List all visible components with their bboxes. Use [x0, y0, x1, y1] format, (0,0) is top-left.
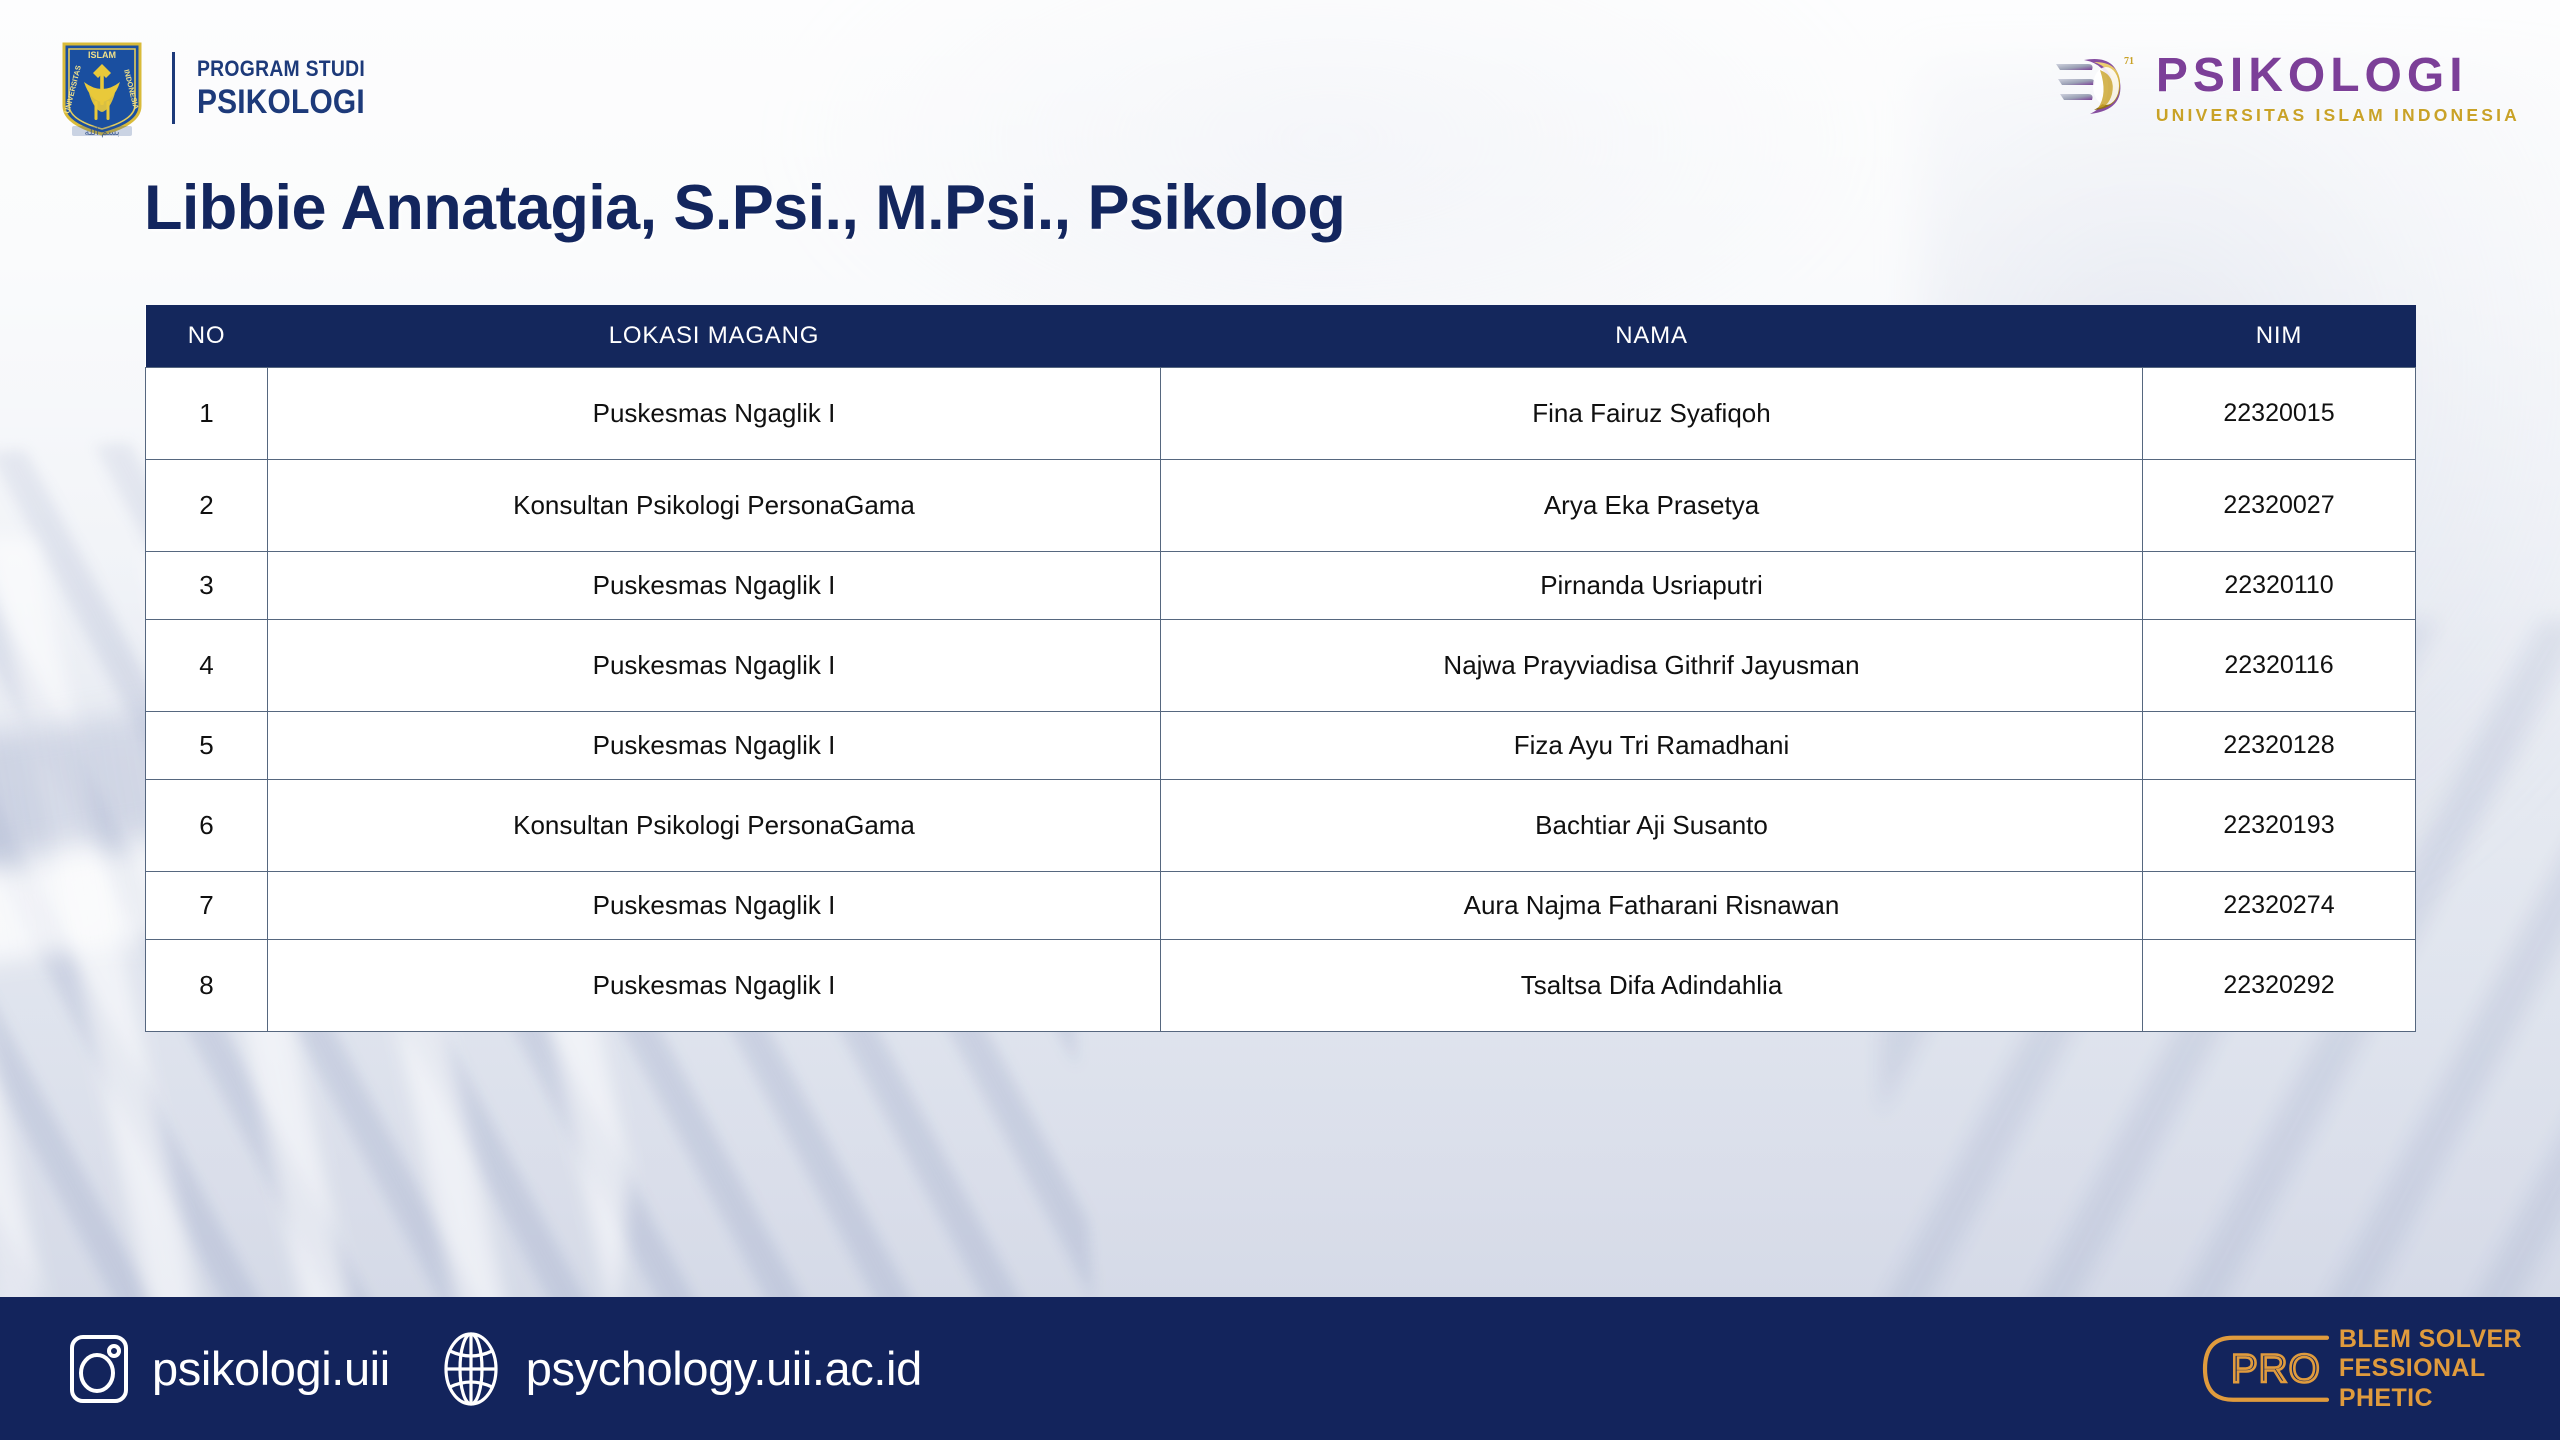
cell-nim: 22320110 — [2143, 551, 2416, 619]
cell-lokasi: Puskesmas Ngaglik I — [268, 711, 1161, 779]
footer-instagram[interactable]: psikologi.uii — [68, 1333, 390, 1405]
svg-text:بسم الله: بسم الله — [84, 127, 119, 138]
cell-nama: Fina Fairuz Syafiqoh — [1161, 367, 2143, 459]
slide-root: ISLAM UNIVERSITAS INDONESIA بسم الله PRO… — [0, 0, 2560, 1440]
svg-text:ISLAM: ISLAM — [88, 50, 116, 60]
pro-capsule-icon: PRO — [2199, 1332, 2329, 1406]
column-header-nim: NIM — [2143, 305, 2416, 367]
table-row: 5Puskesmas Ngaglik IFiza Ayu Tri Ramadha… — [146, 711, 2416, 779]
cell-lokasi: Konsultan Psikologi PersonaGama — [268, 459, 1161, 551]
svg-text:71: 71 — [2124, 56, 2134, 67]
cell-lokasi: Puskesmas Ngaglik I — [268, 871, 1161, 939]
page-title: Libbie Annatagia, S.Psi., M.Psi., Psikol… — [144, 172, 1345, 244]
brand-lockup-right: 71 PSIKOLOGI UNIVERSITAS ISLAM INDONESIA — [2054, 48, 2520, 129]
cell-lokasi: Puskesmas Ngaglik I — [268, 551, 1161, 619]
uii-shield-logo-icon: ISLAM UNIVERSITAS INDONESIA بسم الله — [58, 38, 146, 138]
cell-no: 6 — [146, 779, 268, 871]
footer-website[interactable]: psychology.uii.ac.id — [438, 1330, 922, 1408]
cell-lokasi: Konsultan Psikologi PersonaGama — [268, 779, 1161, 871]
cell-nim: 22320193 — [2143, 779, 2416, 871]
cell-nim: 22320116 — [2143, 619, 2416, 711]
table-row: 3Puskesmas Ngaglik IPirnanda Usriaputri2… — [146, 551, 2416, 619]
instagram-handle: psikologi.uii — [152, 1341, 390, 1396]
cell-no: 3 — [146, 551, 268, 619]
table-header-row: NO LOKASI MAGANG NAMA NIM — [146, 305, 2416, 367]
footer-bar: psikologi.uii psychology.uii.ac.id PR — [0, 1297, 2560, 1440]
table-row: 1Puskesmas Ngaglik IFina Fairuz Syafiqoh… — [146, 367, 2416, 459]
cell-no: 8 — [146, 939, 268, 1031]
cell-no: 1 — [146, 367, 268, 459]
cell-nim: 22320015 — [2143, 367, 2416, 459]
instagram-icon — [68, 1333, 130, 1405]
table-row: 8Puskesmas Ngaglik ITsaltsa Difa Adindah… — [146, 939, 2416, 1031]
cell-nim: 22320292 — [2143, 939, 2416, 1031]
table-row: 4Puskesmas Ngaglik INajwa Prayviadisa Gi… — [146, 619, 2416, 711]
cell-nim: 22320027 — [2143, 459, 2416, 551]
table-row: 6Konsultan Psikologi PersonaGamaBachtiar… — [146, 779, 2416, 871]
brand-lockup-left: ISLAM UNIVERSITAS INDONESIA بسم الله PRO… — [58, 38, 388, 138]
column-header-lokasi: LOKASI MAGANG — [268, 305, 1161, 367]
cell-no: 7 — [146, 871, 268, 939]
program-studi-label: PROGRAM STUDI — [197, 58, 365, 80]
table-row: 2Konsultan Psikologi PersonaGamaArya Eka… — [146, 459, 2416, 551]
cell-nama: Fiza Ayu Tri Ramadhani — [1161, 711, 2143, 779]
cell-nama: Pirnanda Usriaputri — [1161, 551, 2143, 619]
cell-no: 4 — [146, 619, 268, 711]
cell-lokasi: Puskesmas Ngaglik I — [268, 619, 1161, 711]
cell-nim: 22320274 — [2143, 871, 2416, 939]
pro-tagline-2: FESSIONAL — [2339, 1354, 2522, 1384]
psikologi-wordmark: PSIKOLOGI — [2156, 52, 2520, 100]
internship-table-container: NO LOKASI MAGANG NAMA NIM 1Puskesmas Nga… — [145, 305, 2415, 1032]
column-header-no: NO — [146, 305, 268, 367]
svg-text:PRO: PRO — [2231, 1347, 2321, 1391]
psikologi-label: PSIKOLOGI — [197, 85, 365, 119]
cell-no: 5 — [146, 711, 268, 779]
cell-no: 2 — [146, 459, 268, 551]
pro-tagline-3: PHETIC — [2339, 1383, 2522, 1413]
table-row: 7Puskesmas Ngaglik IAura Najma Fatharani… — [146, 871, 2416, 939]
globe-icon — [438, 1330, 504, 1408]
cell-nim: 22320128 — [2143, 711, 2416, 779]
website-url: psychology.uii.ac.id — [526, 1341, 922, 1396]
table-body: 1Puskesmas Ngaglik IFina Fairuz Syafiqoh… — [146, 367, 2416, 1031]
cell-lokasi: Puskesmas Ngaglik I — [268, 367, 1161, 459]
psikologi-wing-logo-icon: 71 — [2054, 48, 2140, 129]
pro-tagline-1: BLEM SOLVER — [2339, 1324, 2522, 1354]
cell-lokasi: Puskesmas Ngaglik I — [268, 939, 1161, 1031]
cell-nama: Najwa Prayviadisa Githrif Jayusman — [1161, 619, 2143, 711]
internship-table: NO LOKASI MAGANG NAMA NIM 1Puskesmas Nga… — [145, 305, 2416, 1032]
pro-badge: PRO BLEM SOLVER FESSIONAL PHETIC — [2199, 1324, 2522, 1413]
cell-nama: Tsaltsa Difa Adindahlia — [1161, 939, 2143, 1031]
cell-nama: Bachtiar Aji Susanto — [1161, 779, 2143, 871]
cell-nama: Arya Eka Prasetya — [1161, 459, 2143, 551]
brand-divider — [172, 52, 175, 124]
universitas-islam-indonesia-label: UNIVERSITAS ISLAM INDONESIA — [2156, 107, 2520, 125]
cell-nama: Aura Najma Fatharani Risnawan — [1161, 871, 2143, 939]
column-header-nama: NAMA — [1161, 305, 2143, 367]
